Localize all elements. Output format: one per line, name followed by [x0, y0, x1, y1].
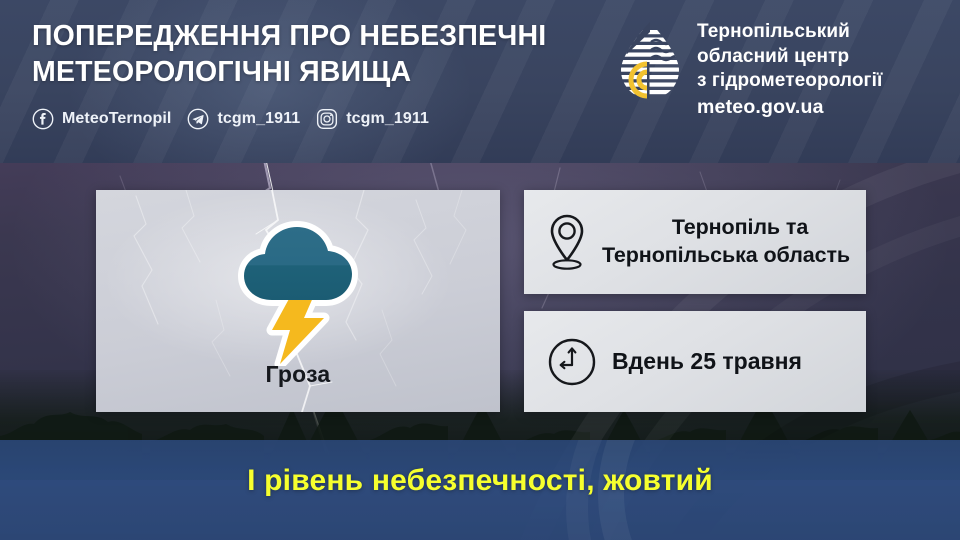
logo-text-block: Тернопільський обласний центр з гідромет…	[697, 20, 882, 119]
page-title-line1: ПОПЕРЕДЖЕННЯ ПРО НЕБЕЗПЕЧНІ	[32, 20, 546, 52]
time-text: Вдень 25 травня	[612, 348, 802, 375]
social-links: MeteoTernopil tcgm_1911	[32, 108, 445, 130]
logo-line2: обласний центр	[697, 45, 882, 70]
logo-line1: Тернопільський	[697, 20, 882, 45]
infographic-poster: ПОПЕРЕДЖЕННЯ ПРО НЕБЕЗПЕЧНІ МЕТЕОРОЛОГІЧ…	[0, 0, 960, 540]
thunderstorm-icon	[232, 214, 364, 366]
location-line2: Тернопільська область	[592, 242, 860, 270]
clock-icon	[546, 336, 598, 388]
facebook-icon	[32, 108, 54, 130]
location-card: Тернопіль та Тернопільська область	[524, 190, 866, 294]
telegram-icon	[187, 108, 209, 130]
phenomenon-label: Гроза	[96, 361, 500, 388]
map-pin-icon	[546, 212, 588, 272]
header-band: ПОПЕРЕДЖЕННЯ ПРО НЕБЕЗПЕЧНІ МЕТЕОРОЛОГІЧ…	[0, 0, 960, 163]
facebook-handle: MeteoTernopil	[62, 110, 171, 128]
instagram-handle: tcgm_1911	[346, 110, 429, 128]
location-text: Тернопіль та Тернопільська область	[592, 214, 860, 269]
page-title: ПОПЕРЕДЖЕННЯ ПРО НЕБЕЗПЕЧНІ МЕТЕОРОЛОГІЧ…	[32, 18, 612, 91]
phenomenon-card: Гроза	[96, 190, 500, 412]
water-drop-logo-icon	[617, 20, 683, 102]
social-link-facebook[interactable]: MeteoTernopil	[32, 108, 187, 130]
logo-line3: з гідрометеорології	[697, 69, 882, 94]
social-link-telegram[interactable]: tcgm_1911	[187, 108, 316, 130]
danger-level-banner: І рівень небезпечності, жовтий	[0, 440, 960, 540]
time-card: Вдень 25 травня	[524, 311, 866, 412]
location-line1: Тернопіль та	[620, 214, 860, 242]
instagram-icon	[316, 108, 338, 130]
organization-logo: Тернопільський обласний центр з гідромет…	[617, 20, 882, 119]
social-link-instagram[interactable]: tcgm_1911	[316, 108, 445, 130]
telegram-handle: tcgm_1911	[217, 110, 300, 128]
logo-website: meteo.gov.ua	[697, 96, 882, 119]
danger-level-text: І рівень небезпечності, жовтий	[0, 464, 960, 498]
page-title-line2: МЕТЕОРОЛОГІЧНІ ЯВИЩА	[32, 54, 612, 90]
